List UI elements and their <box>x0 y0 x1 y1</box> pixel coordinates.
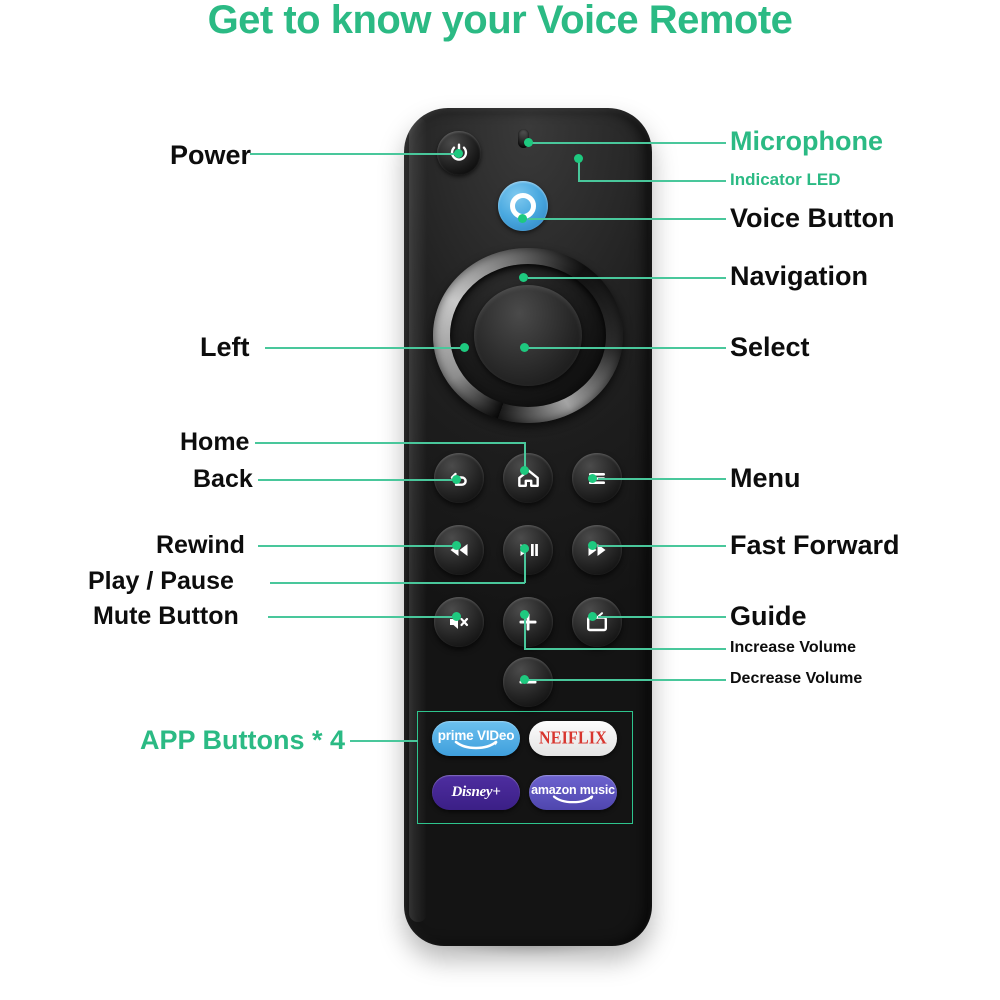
label-back: Back <box>193 467 253 492</box>
leader-back <box>258 479 458 481</box>
leader-mute <box>268 616 458 618</box>
select-button[interactable] <box>474 285 582 386</box>
anchor-microphone <box>524 138 533 147</box>
anchor-play-pause <box>520 544 529 553</box>
mute-button[interactable] <box>434 597 484 647</box>
leader-home <box>255 442 525 444</box>
infographic-canvas: Get to know your Voice Remote <box>0 0 1000 1000</box>
anchor-mute <box>452 612 461 621</box>
label-rewind: Rewind <box>156 533 245 558</box>
rewind-button[interactable] <box>434 525 484 575</box>
label-guide: Guide <box>730 603 807 630</box>
navigation-ring[interactable] <box>433 248 623 423</box>
leader-increase-volume-vertical <box>524 614 526 649</box>
app-button-netflix[interactable]: NEIFLIX <box>529 721 617 756</box>
anchor-home <box>520 466 529 475</box>
label-menu: Menu <box>730 465 801 492</box>
label-mute: Mute Button <box>93 604 239 629</box>
guide-button[interactable] <box>572 597 622 647</box>
leader-menu <box>598 478 726 480</box>
label-left: Left <box>200 334 250 361</box>
app-button-prime-video[interactable]: prime VIDeo <box>432 721 520 756</box>
label-play-pause: Play / Pause <box>88 569 234 594</box>
anchor-decrease-volume <box>520 675 529 684</box>
label-home: Home <box>180 430 249 455</box>
disney-plus-label: Disney+ <box>452 785 501 800</box>
leader-play-pause <box>270 582 525 584</box>
leader-guide <box>598 616 726 618</box>
label-decrease-volume: Decrease Volume <box>730 671 862 687</box>
leader-power <box>250 153 458 155</box>
leader-increase-volume <box>524 648 726 650</box>
leader-navigation <box>528 277 726 279</box>
fast-forward-button[interactable] <box>572 525 622 575</box>
label-app-buttons: APP Buttons * 4 <box>140 727 345 754</box>
anchor-fast-forward <box>588 541 597 550</box>
label-voice-button: Voice Button <box>730 205 895 232</box>
anchor-guide <box>588 612 597 621</box>
anchor-increase-volume <box>520 610 529 619</box>
leader-rewind <box>258 545 458 547</box>
page-title: Get to know your Voice Remote <box>0 0 1000 43</box>
volume-up-button[interactable] <box>503 597 553 647</box>
leader-play-pause-vertical <box>524 548 526 583</box>
anchor-indicator-led <box>574 154 583 163</box>
label-fast-forward: Fast Forward <box>730 532 900 559</box>
anchor-left <box>460 343 469 352</box>
anchor-select <box>520 343 529 352</box>
anchor-voice-button <box>518 214 527 223</box>
label-microphone: Microphone <box>730 128 883 155</box>
label-power: Power <box>170 142 251 169</box>
label-navigation: Navigation <box>730 263 868 290</box>
leader-app-buttons <box>350 740 418 742</box>
anchor-back <box>452 475 461 484</box>
prime-video-label: prime VIDeo <box>438 729 515 743</box>
leader-indicator-led <box>578 180 726 182</box>
fast-forward-icon <box>584 537 610 563</box>
netflix-label: NEIFLIX <box>539 729 607 747</box>
home-button[interactable] <box>503 453 553 503</box>
anchor-navigation <box>519 273 528 282</box>
voice-button[interactable] <box>498 181 548 231</box>
leader-select <box>528 347 726 349</box>
anchor-menu <box>588 474 597 483</box>
leader-decrease-volume <box>524 679 726 681</box>
label-indicator-led: Indicator LED <box>730 171 841 188</box>
anchor-rewind <box>452 541 461 550</box>
leader-voice-button <box>528 218 726 220</box>
leader-left <box>265 347 464 349</box>
amazon-music-label: amazon music <box>531 784 615 797</box>
leader-fast-forward <box>598 545 726 547</box>
anchor-power <box>454 149 463 158</box>
leader-microphone <box>528 142 726 144</box>
label-select: Select <box>730 334 810 361</box>
app-button-disney-plus[interactable]: Disney+ <box>432 775 520 810</box>
label-increase-volume: Increase Volume <box>730 640 856 656</box>
app-button-amazon-music[interactable]: amazon music <box>529 775 617 810</box>
